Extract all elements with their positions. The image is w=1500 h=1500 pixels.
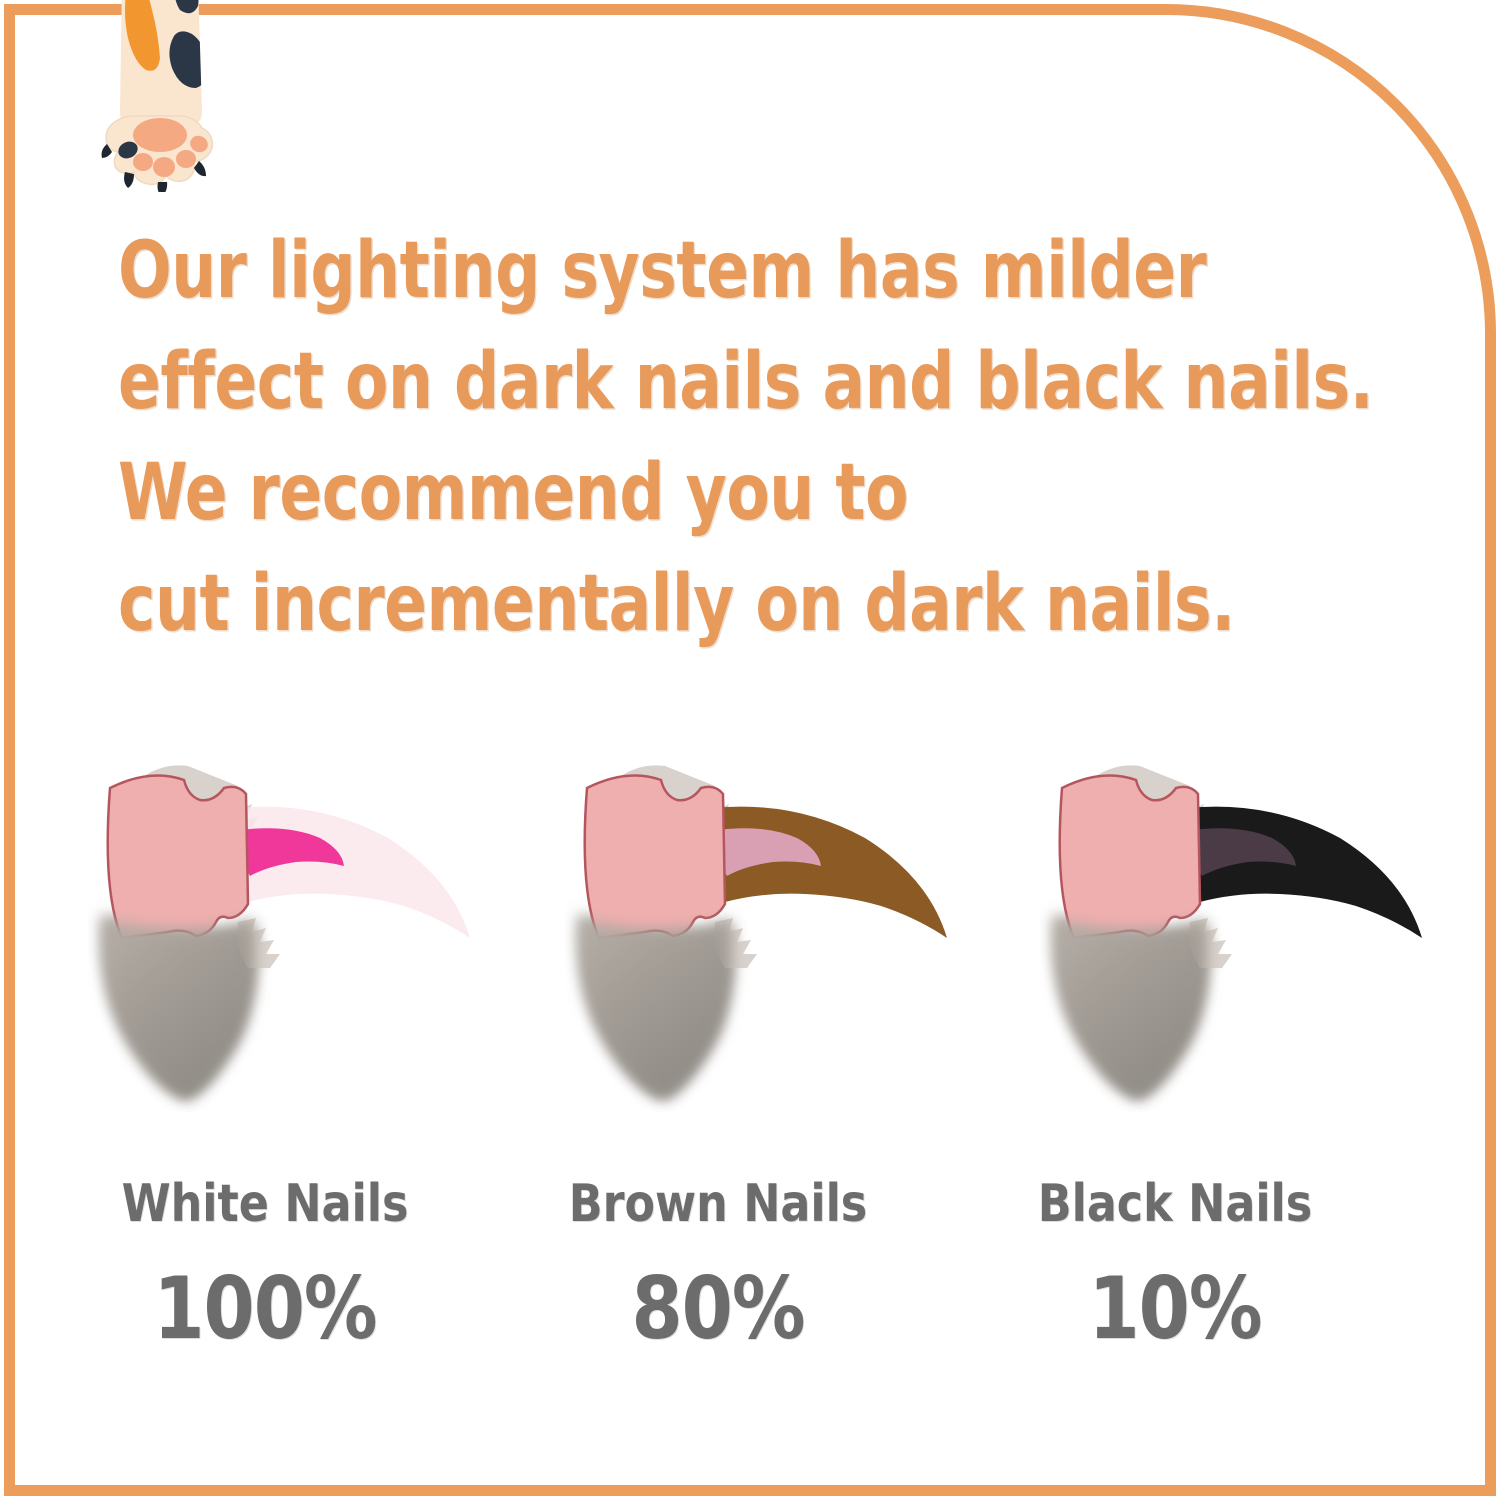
- nail-captions-row: White Nails 100% Brown Nails 80% Black N…: [0, 1175, 1500, 1385]
- headline-line-3: We recommend you to: [118, 438, 1288, 549]
- caption-col-white: White Nails 100%: [55, 1175, 475, 1355]
- caption-col-brown: Brown Nails 80%: [508, 1175, 928, 1355]
- headline-line-2: effect on dark nails and black nails.: [118, 327, 1288, 438]
- caption-col-black: Black Nails 10%: [965, 1175, 1385, 1355]
- nail-diagrams-row: [0, 742, 1500, 1112]
- infographic-root: Our lighting system has milder effect on…: [0, 0, 1500, 1500]
- nail-percent-black: 10%: [976, 1263, 1375, 1355]
- headline-line-1: Our lighting system has milder: [118, 216, 1288, 327]
- cat-paw-icon: [98, 0, 228, 192]
- black-nail-diagram: [1040, 742, 1440, 1112]
- brown-nail-diagram: [565, 742, 965, 1112]
- headline-line-4: cut incrementally on dark nails.: [118, 549, 1288, 660]
- nail-percent-brown: 80%: [519, 1263, 918, 1355]
- white-nail-diagram: [88, 742, 488, 1112]
- nail-label-white: White Nails: [66, 1175, 465, 1233]
- headline-block: Our lighting system has milder effect on…: [118, 216, 1418, 660]
- nail-percent-white: 100%: [66, 1263, 465, 1355]
- nail-label-black: Black Nails: [976, 1175, 1375, 1233]
- nail-label-brown: Brown Nails: [519, 1175, 918, 1233]
